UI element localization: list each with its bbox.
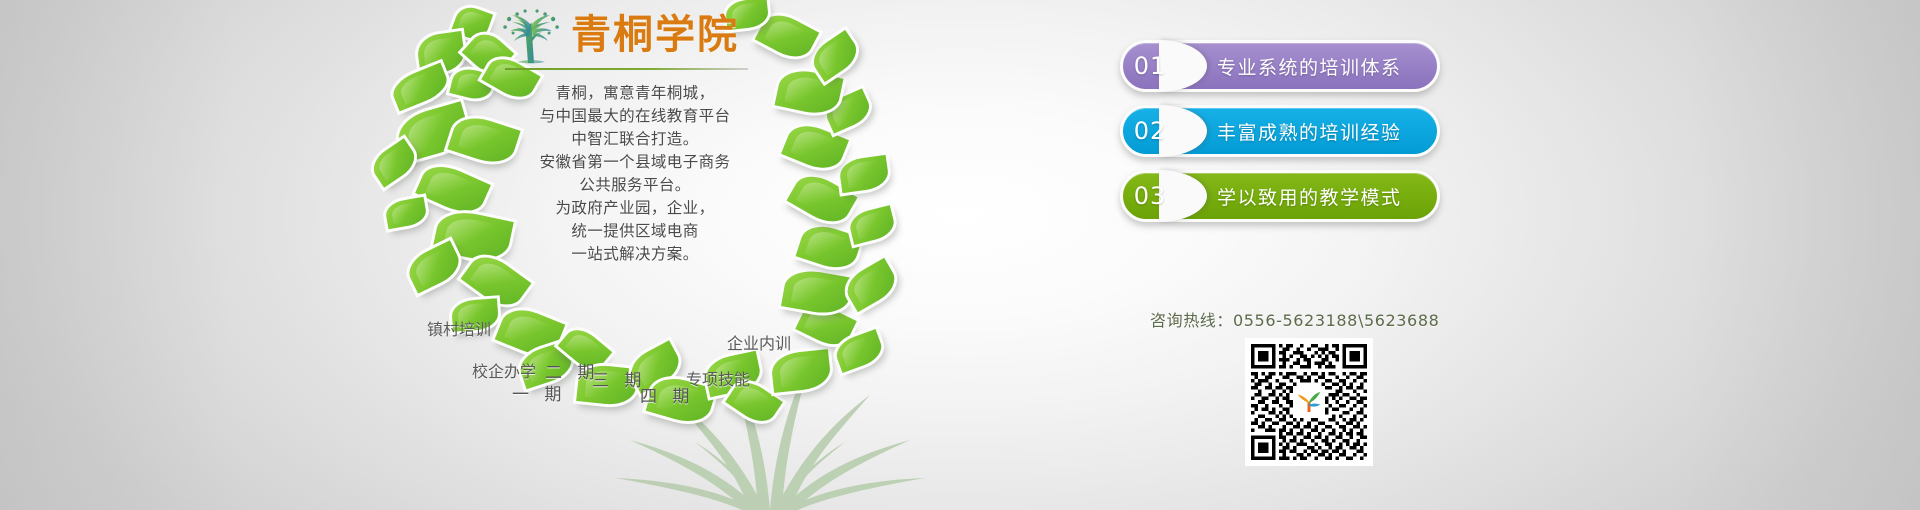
leaf	[388, 63, 451, 112]
caption-qiye-neixun: 企业内训	[727, 330, 791, 354]
caption-phase-3: 三 期	[592, 366, 646, 391]
caption-phase-1: 一 期	[512, 380, 566, 405]
feature-badge-number: 03	[1123, 182, 1177, 210]
feature-badge-number: 02	[1123, 117, 1177, 145]
caption-phase-4: 四 期	[640, 382, 694, 407]
feature-badge-label: 专业系统的培训体系	[1217, 53, 1402, 80]
feature-badge-02[interactable]: 02 丰富成熟的培训经验	[1120, 105, 1440, 157]
description-line: 公共服务平台。	[510, 174, 760, 197]
leaf	[841, 258, 901, 312]
promo-banner: 青桐学院 青桐，寓意青年桐城， 与中国最大的在线教育平台 中智汇联合打造。 安徽…	[0, 0, 1920, 510]
feature-badge-01[interactable]: 01 专业系统的培训体系	[1120, 40, 1440, 92]
feature-badge-03[interactable]: 03 学以致用的教学模式	[1120, 170, 1440, 222]
description-line: 与中国最大的在线教育平台	[510, 105, 760, 128]
description-line: 中智汇联合打造。	[510, 128, 760, 151]
feature-badge-number: 01	[1123, 52, 1177, 80]
description-line: 统一提供区域电商	[510, 220, 760, 243]
description-paragraph: 青桐，寓意青年桐城， 与中国最大的在线教育平台 中智汇联合打造。 安徽省第一个县…	[510, 82, 760, 266]
description-line: 安徽省第一个县域电子商务	[510, 151, 760, 174]
leaf	[838, 155, 890, 193]
description-line: 为政府产业园，企业，	[510, 197, 760, 220]
caption-zhuanxiang-jineng: 专项技能	[686, 366, 750, 390]
leaf	[847, 205, 897, 245]
brand-underline	[505, 68, 748, 70]
caption-zhencun-peixun: 镇村培训	[427, 316, 491, 340]
description-line: 一站式解决方案。	[510, 243, 760, 266]
brand-mark-icon	[1294, 387, 1324, 417]
tree-logo-icon	[495, 5, 567, 65]
leaf	[384, 197, 428, 230]
brand-title: 青桐学院	[571, 15, 739, 55]
brand-logo: 青桐学院	[495, 4, 760, 82]
qr-code[interactable]	[1245, 338, 1373, 466]
description-line: 青桐，寓意青年桐城，	[510, 82, 760, 105]
hotline-text: 咨询热线：0556-5623188\5623688	[1150, 307, 1439, 331]
leaf	[415, 158, 491, 220]
feature-badge-label: 丰富成熟的培训经验	[1217, 118, 1402, 145]
caption-xiaoqi-banxue: 校企办学	[472, 358, 536, 382]
feature-badge-list: 01 专业系统的培训体系 02 丰富成熟的培训经验 03 学以致用的教学模式	[1120, 40, 1440, 235]
grass-tuft-icon	[560, 330, 980, 510]
feature-badge-label: 学以致用的教学模式	[1217, 183, 1402, 210]
leaf	[781, 267, 853, 318]
